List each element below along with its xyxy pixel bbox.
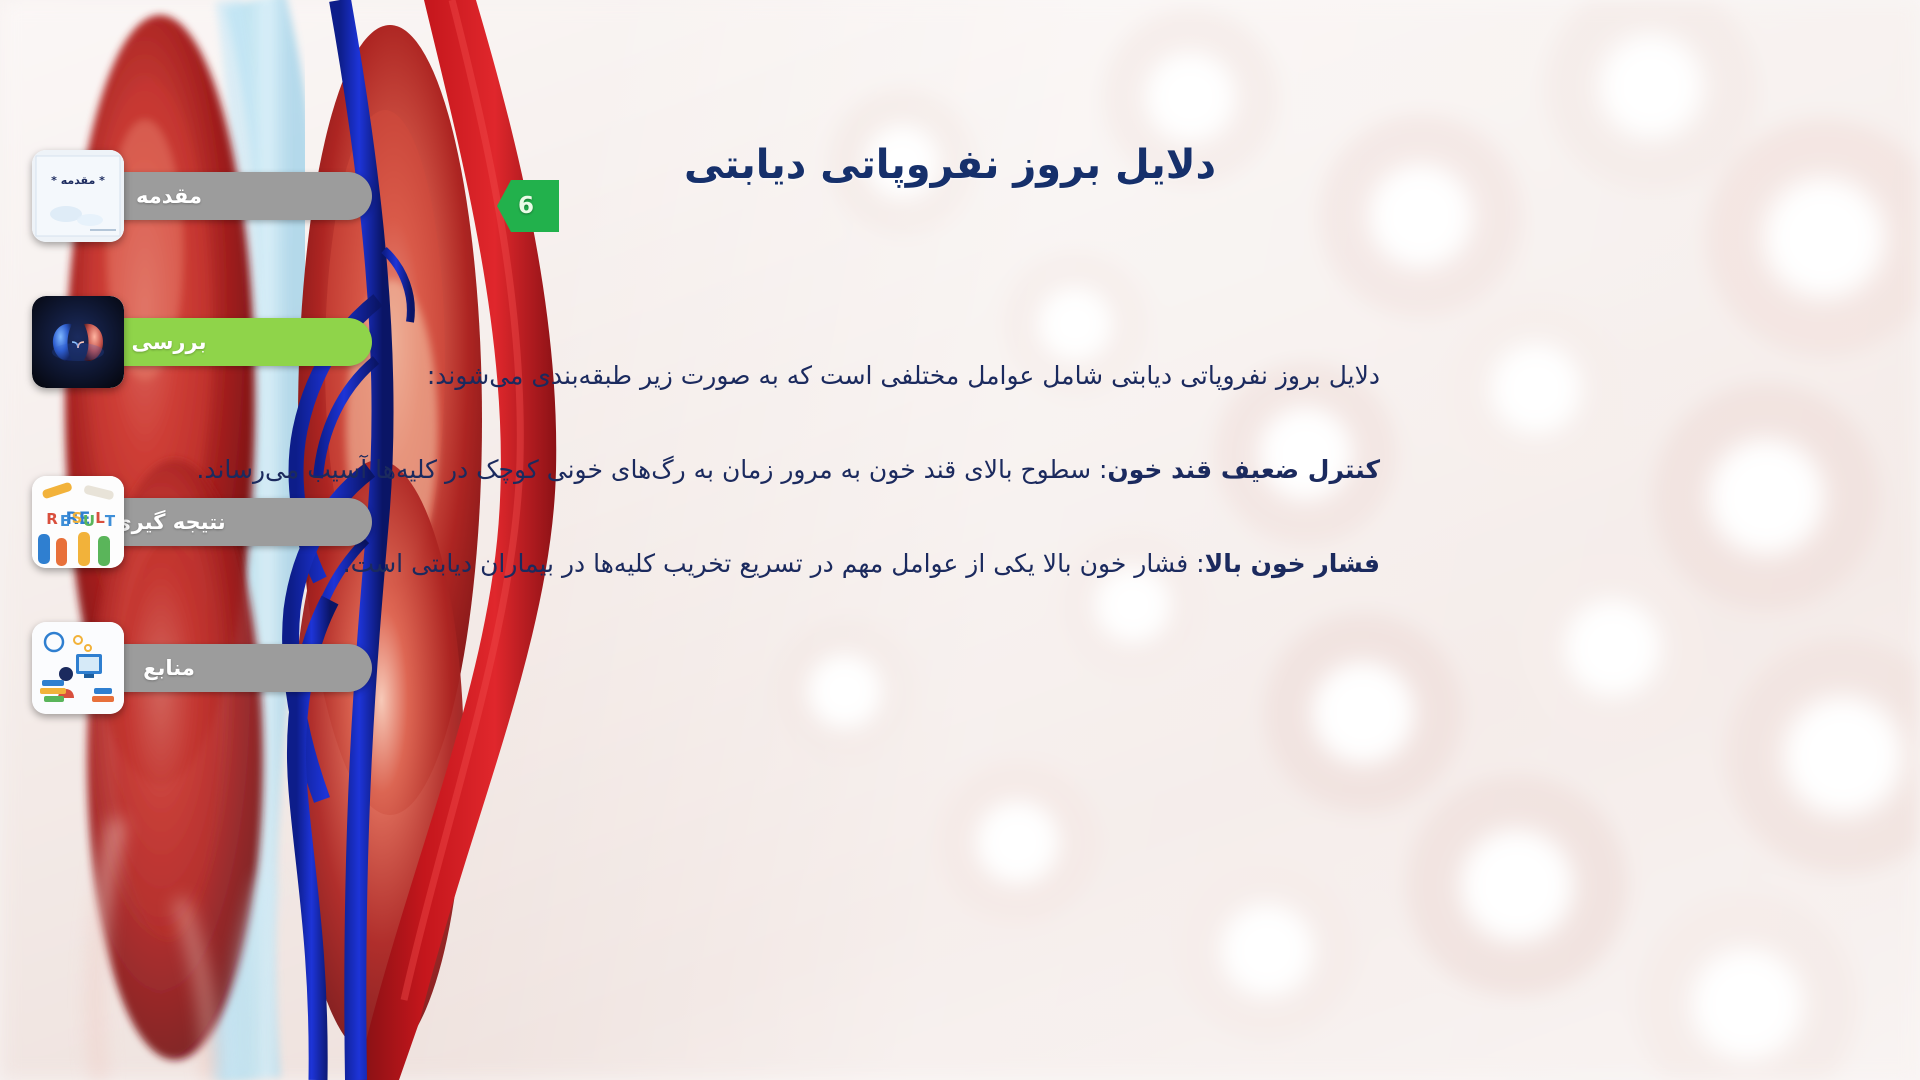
paragraph-glycemic-control-lead: کنترل ضعیف قند خون	[1107, 455, 1380, 484]
references-thumbnail[interactable]	[32, 622, 124, 714]
slide-number: 6	[497, 180, 559, 232]
svg-text:E: E	[60, 512, 70, 530]
svg-text:S: S	[72, 509, 83, 527]
page-title: دلایل بروز نفروپاتی دیابتی	[570, 142, 1330, 188]
svg-text:L: L	[95, 509, 105, 527]
presentation-slide: 6 دلایل بروز نفروپاتی دیابتی دلایل بروز …	[0, 0, 1920, 1080]
sidebar-navigation: مقدمه * مقدمه * بررسی	[0, 0, 400, 1080]
svg-text:U: U	[83, 512, 95, 530]
svg-text:* مقدمه *: * مقدمه *	[51, 174, 105, 187]
results-thumbnail[interactable]: RE S R E S U L T	[32, 476, 124, 568]
paragraph-hypertension-lead: فشار خون بالا	[1205, 549, 1380, 578]
kidneys-thumbnail[interactable]	[32, 296, 124, 388]
slide-number-badge: 6	[497, 180, 559, 232]
svg-text:R: R	[46, 510, 58, 528]
svg-text:T: T	[105, 512, 116, 530]
paragraph-intro-text: دلایل بروز نفروپاتی دیابتی شامل عوامل مخ…	[427, 361, 1380, 390]
paragraph-hypertension-text: : فشار خون بالا یکی از عوامل مهم در تسری…	[343, 549, 1205, 578]
sidebar-item-review-label: بررسی	[132, 330, 207, 354]
sidebar-item-references-label: منابع	[143, 656, 195, 680]
sidebar-item-introduction-label: مقدمه	[136, 184, 202, 208]
sidebar-item-conclusion-label: نتیجه گیری	[112, 510, 225, 534]
intro-slide-thumbnail[interactable]: * مقدمه *	[32, 150, 124, 242]
